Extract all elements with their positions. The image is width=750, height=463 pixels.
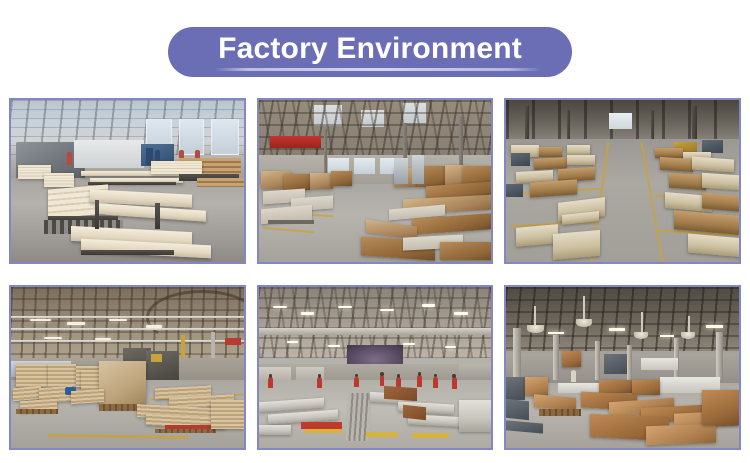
gallery-photo-4: [9, 285, 246, 451]
page-title: Factory Environment: [218, 34, 522, 64]
gallery-photo-5: [257, 285, 494, 451]
factory-photo-image: [11, 100, 244, 262]
factory-photo-image: [506, 100, 739, 262]
banner-wrap: Factory Environment: [0, 27, 750, 77]
factory-environment-page: Factory Environment: [0, 0, 750, 463]
gallery-photo-1: [9, 98, 246, 264]
photo-gallery-grid: [9, 98, 741, 450]
title-underline: [214, 68, 542, 71]
title-banner: Factory Environment: [168, 27, 572, 77]
gallery-photo-6: [504, 285, 741, 451]
gallery-photo-2: [257, 98, 494, 264]
factory-photo-image: [506, 287, 739, 449]
factory-photo-image: [259, 100, 492, 262]
factory-photo-image: [11, 287, 244, 449]
gallery-photo-3: [504, 98, 741, 264]
factory-photo-image: [259, 287, 492, 449]
